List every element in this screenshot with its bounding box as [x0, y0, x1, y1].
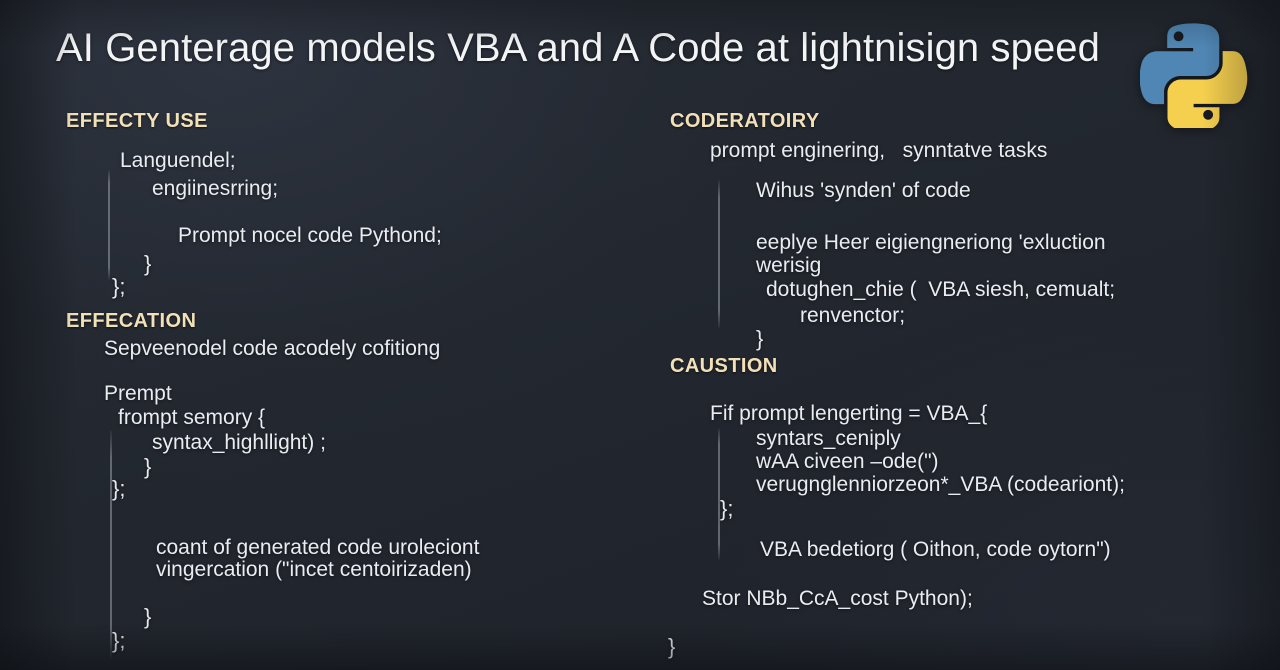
- slide-canvas: AI Genterage models VBA and A Code at li…: [0, 0, 1280, 670]
- left-code-line: };: [112, 628, 125, 654]
- left-code-line: }: [144, 604, 151, 630]
- left-code-line: Languendel;: [120, 148, 236, 174]
- right-code-line: dotughen_chie ( VBA siesh, cemualt;: [766, 277, 1115, 303]
- right-code-line: Stor NBb_CcA_cost Python);: [702, 586, 973, 612]
- right-code-line: verugnglenniorzeon*_VBA (codeariont);: [756, 472, 1125, 498]
- right-section-heading-caustion: CAUSTION: [670, 355, 778, 378]
- right-code-line: }: [668, 634, 675, 660]
- left-section-heading-effecty-use: EFFECTY USE: [66, 110, 208, 133]
- left-code-line: }: [144, 251, 151, 277]
- indent-guide-right-2: [718, 428, 720, 560]
- left-code-line: frompt semory {: [118, 405, 265, 431]
- left-section-heading-effecation: EFFECATION: [66, 310, 196, 333]
- right-code-line: renvenctor;: [800, 303, 905, 329]
- right-code-line: Fif prompt lengerting = VBA_{: [710, 401, 987, 427]
- left-code-line: };: [112, 274, 125, 300]
- left-code-line: engiinesrring;: [152, 176, 278, 202]
- right-code-line: werisig: [756, 253, 821, 279]
- left-column: EFFECTY USE Languendel; engiinesrring; P…: [56, 0, 656, 670]
- right-code-line: VBA bedetiorg ( Oithon, code oytorn"): [760, 537, 1111, 563]
- right-section-heading-coderatoiry: CODERATOIRY: [670, 110, 820, 133]
- right-code-line: Wihus 'synden' of code: [756, 178, 971, 204]
- left-code-line: };: [112, 476, 125, 502]
- right-code-line: }: [756, 326, 763, 352]
- left-code-line: Prempt: [104, 381, 172, 407]
- right-code-line: prompt enginering, synntatve tasks: [710, 138, 1047, 164]
- right-code-line: };: [720, 496, 733, 522]
- left-code-line: }: [144, 454, 151, 480]
- indent-guide-right-1: [718, 180, 720, 328]
- left-code-line: vingercation ("incet centoirizaden): [156, 557, 472, 583]
- left-code-line: Prompt nocel code Pythond;: [178, 223, 442, 249]
- left-code-line: Sepveenodel code acodely cofitiong: [104, 336, 440, 362]
- indent-guide-left-2: [110, 430, 112, 658]
- indent-guide-left-1: [108, 170, 110, 280]
- left-code-line: syntax_highllight) ;: [152, 430, 326, 456]
- right-column: CODERATOIRY prompt enginering, synntatve…: [660, 0, 1260, 670]
